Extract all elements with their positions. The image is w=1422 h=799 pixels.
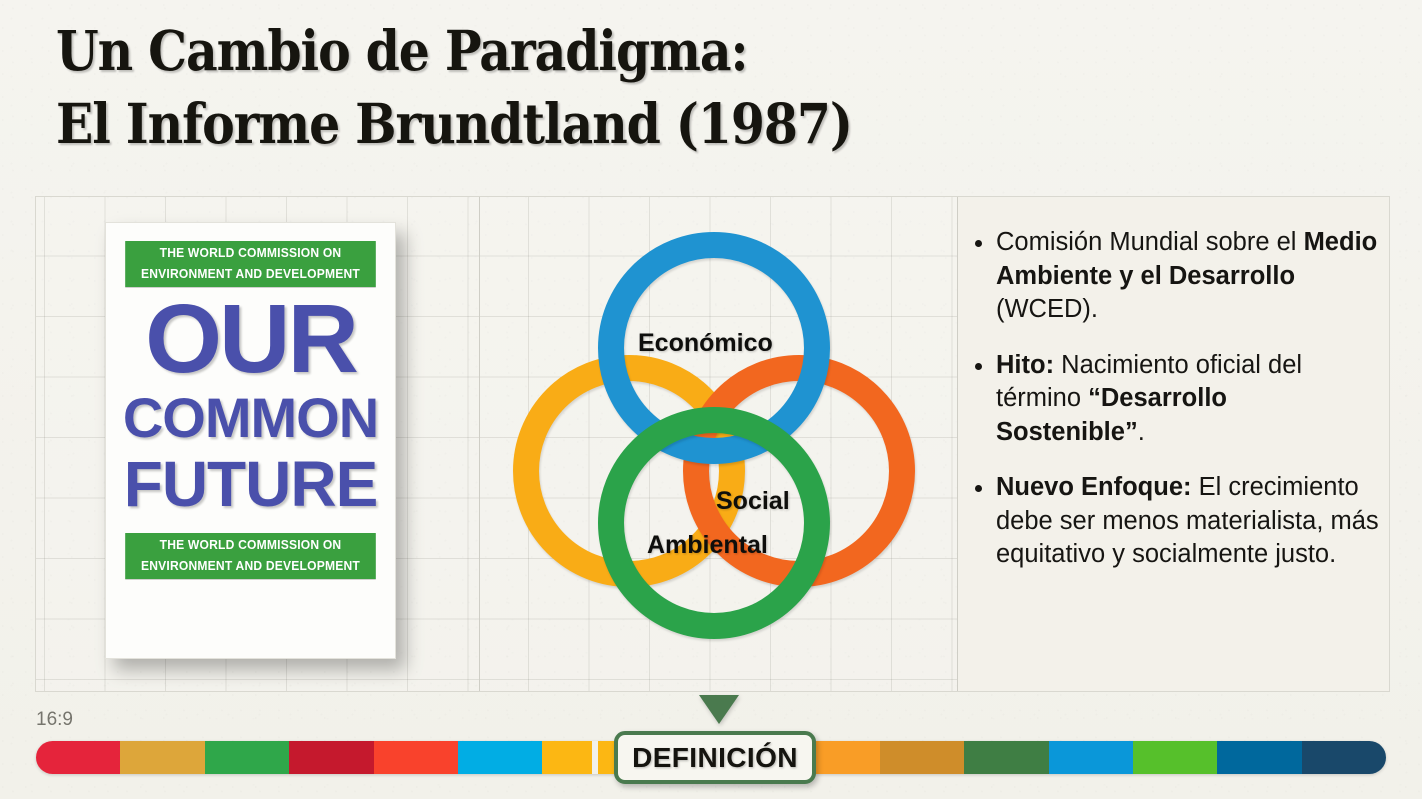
list-item: Hito: Nacimiento oficial del término “De… (996, 349, 1381, 450)
strip-segment (964, 741, 1048, 774)
venn-label-ambiental: Ambiental (647, 531, 768, 560)
list-item: Comisión Mundial sobre el Medio Ambiente… (996, 226, 1381, 327)
book-title-line3: FUTURE (120, 449, 381, 519)
book-title-line1: OUR (117, 291, 383, 387)
book-top-band-line2: ENVIRONMENT AND DEVELOPMENT (125, 264, 376, 285)
book-top-band: THE WORLD COMMISSION ON ENVIRONMENT AND … (125, 241, 376, 287)
strip-segment (289, 741, 373, 774)
venn-label-economico: Económico (638, 329, 773, 358)
strip-segment (1049, 741, 1133, 774)
strip-gap (592, 741, 598, 774)
slide-canvas: Un Cambio de Paradigma: El Informe Brund… (0, 0, 1422, 799)
book-top-band-line1: THE WORLD COMMISSION ON (125, 243, 376, 264)
strip-segment (880, 741, 964, 774)
strip-segment (1302, 741, 1386, 774)
key-points-panel: Comisión Mundial sobre el Medio Ambiente… (966, 226, 1381, 594)
strip-segment (1133, 741, 1217, 774)
strip-segment (120, 741, 204, 774)
panel-divider-left (479, 197, 480, 691)
aspect-ratio-label: 16:9 (36, 709, 73, 731)
strip-segment (1217, 741, 1301, 774)
venn-label-social: Social (716, 487, 790, 516)
definicion-badge: DEFINICIÓN (614, 731, 816, 784)
book-cover-our-common-future: THE WORLD COMMISSION ON ENVIRONMENT AND … (105, 222, 396, 659)
book-title-line2: COMMON (120, 387, 381, 449)
venn-ring-ambiental (598, 407, 830, 639)
strip-segment (458, 741, 542, 774)
strip-segment (36, 741, 120, 774)
book-bottom-band: THE WORLD COMMISSION ON ENVIRONMENT AND … (125, 533, 376, 579)
strip-segment (205, 741, 289, 774)
book-bottom-band-line2: ENVIRONMENT AND DEVELOPMENT (125, 556, 376, 577)
strip-segment (374, 741, 458, 774)
book-title-block: OUR COMMON FUTURE (120, 291, 381, 519)
key-points-list: Comisión Mundial sobre el Medio Ambiente… (966, 226, 1381, 572)
badge-pointer-icon (699, 695, 739, 724)
slide-title: Un Cambio de Paradigma: El Informe Brund… (56, 14, 946, 160)
list-item: Nuevo Enfoque: El crecimiento debe ser m… (996, 471, 1381, 572)
venn-diagram: Económico Social Ambiental (505, 215, 935, 665)
definicion-badge-label: DEFINICIÓN (632, 742, 798, 774)
book-bottom-band-line1: THE WORLD COMMISSION ON (125, 535, 376, 556)
